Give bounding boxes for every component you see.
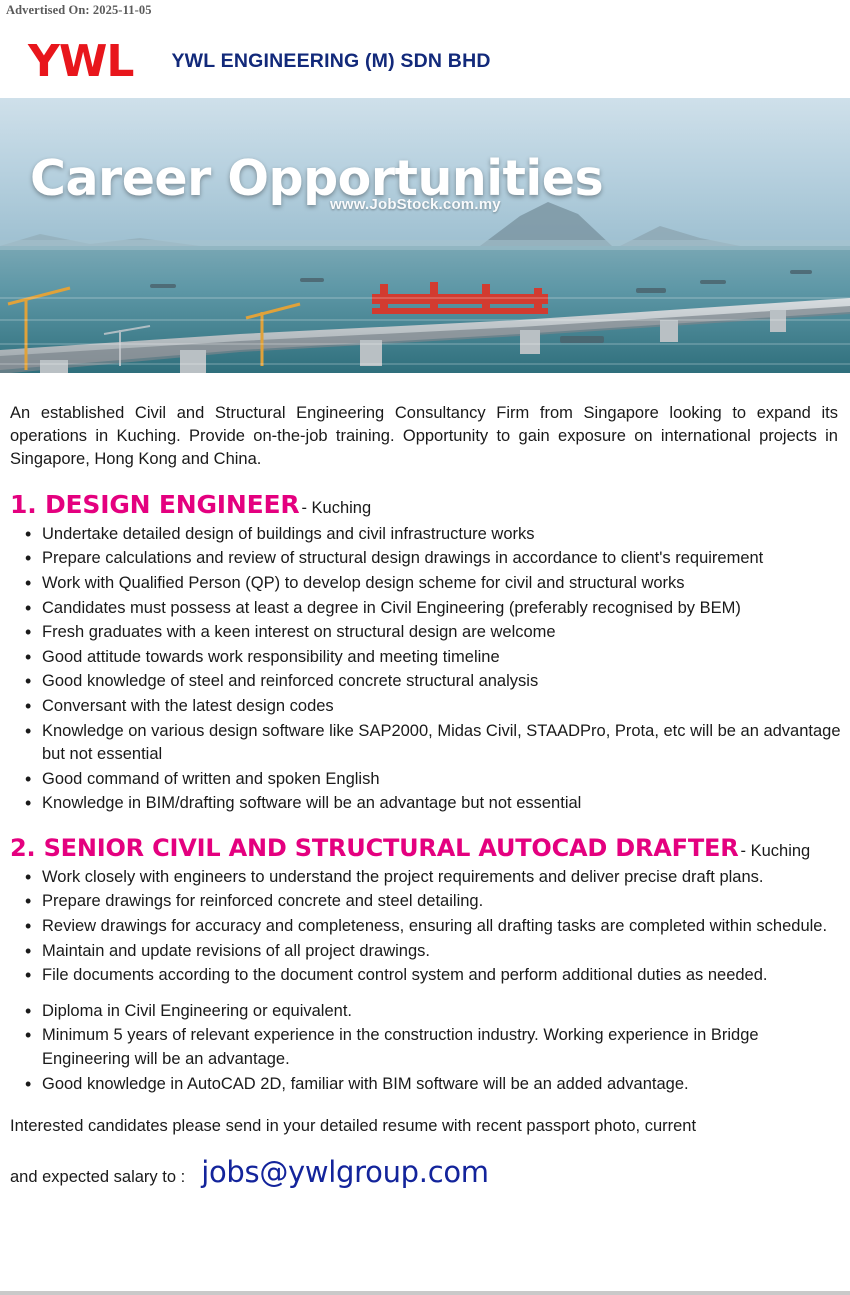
list-item: Good attitude towards work responsibilit… (40, 646, 842, 670)
job-listing-2: 2. SENIOR CIVIL AND STRUCTURAL AUTOCAD D… (10, 834, 842, 1096)
job-advertisement-page: Advertised On: 2025-11-05 YWL YWL ENGINE… (0, 0, 850, 1295)
list-spacer (40, 989, 842, 999)
list-item: Diploma in Civil Engineering or equivale… (40, 1000, 842, 1024)
closing-paragraph: Interested candidates please send in you… (10, 1114, 842, 1139)
list-item: Maintain and update revisions of all pro… (40, 940, 842, 964)
intro-paragraph: An established Civil and Structural Engi… (10, 402, 842, 472)
list-item: Good knowledge in AutoCAD 2D, familiar w… (40, 1073, 842, 1097)
job-1-location: - Kuching (301, 499, 371, 518)
bridge-construction-illustration (0, 98, 850, 373)
list-item: Prepare calculations and review of struc… (40, 547, 842, 571)
list-item: Good knowledge of steel and reinforced c… (40, 670, 842, 694)
list-item: Candidates must possess at least a degre… (40, 597, 842, 621)
job-1-title: 1. DESIGN ENGINEER (10, 490, 299, 519)
list-item: Undertake detailed design of buildings a… (40, 523, 842, 547)
list-item: File documents according to the document… (40, 964, 842, 988)
job-2-title: 2. SENIOR CIVIL AND STRUCTURAL AUTOCAD D… (10, 834, 739, 862)
list-item: Conversant with the latest design codes (40, 695, 842, 719)
advertised-on-bar: Advertised On: 2025-11-05 (0, 0, 850, 25)
career-banner-image: Career Opportunities www.JobStock.com.my (0, 98, 850, 373)
list-item: Prepare drawings for reinforced concrete… (40, 890, 842, 914)
job-listing-1: 1. DESIGN ENGINEER - Kuching Undertake d… (10, 490, 842, 816)
job-1-title-row: 1. DESIGN ENGINEER - Kuching (10, 490, 842, 519)
list-item: Fresh graduates with a keen interest on … (40, 621, 842, 645)
bottom-divider (0, 1291, 850, 1295)
banner-title: Career Opportunities (30, 150, 603, 207)
apply-email-address[interactable]: jobs@ywlgroup.com (201, 1155, 489, 1189)
job-1-requirements-list: Undertake detailed design of buildings a… (10, 523, 842, 816)
banner-watermark: www.JobStock.com.my (330, 196, 501, 213)
apply-label: and expected salary to : (10, 1168, 185, 1187)
advertisement-body: An established Civil and Structural Engi… (0, 373, 850, 1189)
apply-row: and expected salary to : jobs@ywlgroup.c… (10, 1155, 842, 1189)
list-item: Knowledge on various design software lik… (40, 720, 842, 767)
job-2-requirements-list: Work closely with engineers to understan… (10, 866, 842, 1096)
list-item: Good command of written and spoken Engli… (40, 768, 842, 792)
company-name: YWL ENGINEERING (M) SDN BHD (171, 50, 490, 73)
list-item: Knowledge in BIM/drafting software will … (40, 792, 842, 816)
list-item: Review drawings for accuracy and complet… (40, 915, 842, 939)
ywl-logo: YWL (28, 40, 133, 84)
company-header: YWL YWL ENGINEERING (M) SDN BHD (0, 25, 850, 98)
list-item: Minimum 5 years of relevant experience i… (40, 1024, 842, 1071)
job-2-location: - Kuching (741, 842, 811, 861)
list-item: Work closely with engineers to understan… (40, 866, 842, 890)
job-2-title-row: 2. SENIOR CIVIL AND STRUCTURAL AUTOCAD D… (10, 834, 842, 862)
advertised-on-label: Advertised On: 2025-11-05 (6, 3, 152, 17)
list-item: Work with Qualified Person (QP) to devel… (40, 572, 842, 596)
